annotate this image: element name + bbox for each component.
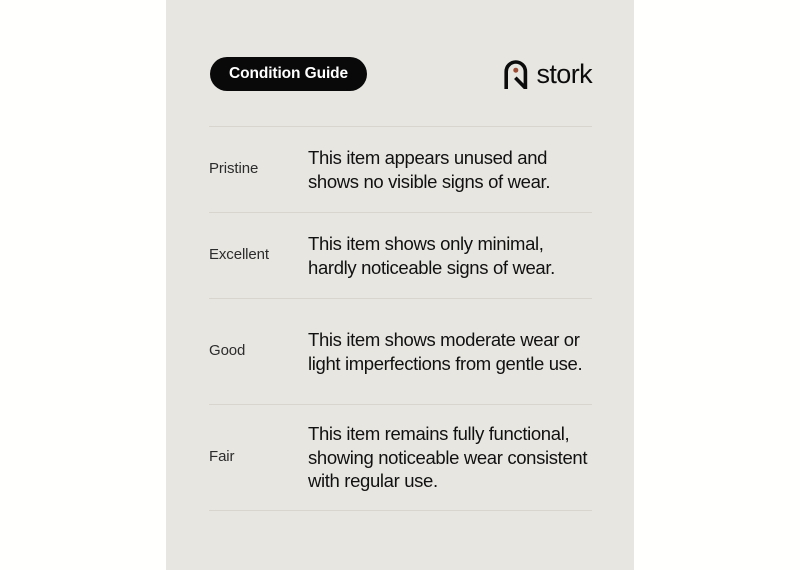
condition-label: Pristine — [209, 160, 308, 179]
condition-label: Good — [209, 342, 308, 361]
condition-label: Excellent — [209, 246, 308, 265]
condition-label: Fair — [209, 448, 308, 467]
brand-lockup: stork — [503, 58, 592, 90]
condition-description: This item appears unused and shows no vi… — [308, 146, 592, 193]
stork-arch-logo-icon — [503, 59, 529, 89]
table-row: Pristine This item appears unused and sh… — [209, 127, 592, 212]
brand-name: stork — [536, 61, 592, 88]
condition-guide-badge-label: Condition Guide — [229, 66, 348, 82]
card-header: Condition Guide stork — [210, 57, 592, 91]
condition-description: This item shows moderate wear or light i… — [308, 328, 592, 375]
condition-guide-card: Condition Guide stork Pristine This item… — [166, 0, 634, 570]
condition-guide-table: Pristine This item appears unused and sh… — [209, 126, 592, 511]
table-row: Fair This item remains fully functional,… — [209, 405, 592, 510]
condition-guide-badge: Condition Guide — [210, 57, 367, 91]
table-divider-bottom — [209, 510, 592, 511]
condition-description: This item shows only minimal, hardly not… — [308, 232, 592, 279]
screenshot-stage: Condition Guide stork Pristine This item… — [0, 0, 800, 570]
condition-description: This item remains fully functional, show… — [308, 422, 592, 493]
table-row: Good This item shows moderate wear or li… — [209, 299, 592, 404]
table-row: Excellent This item shows only minimal, … — [209, 213, 592, 298]
